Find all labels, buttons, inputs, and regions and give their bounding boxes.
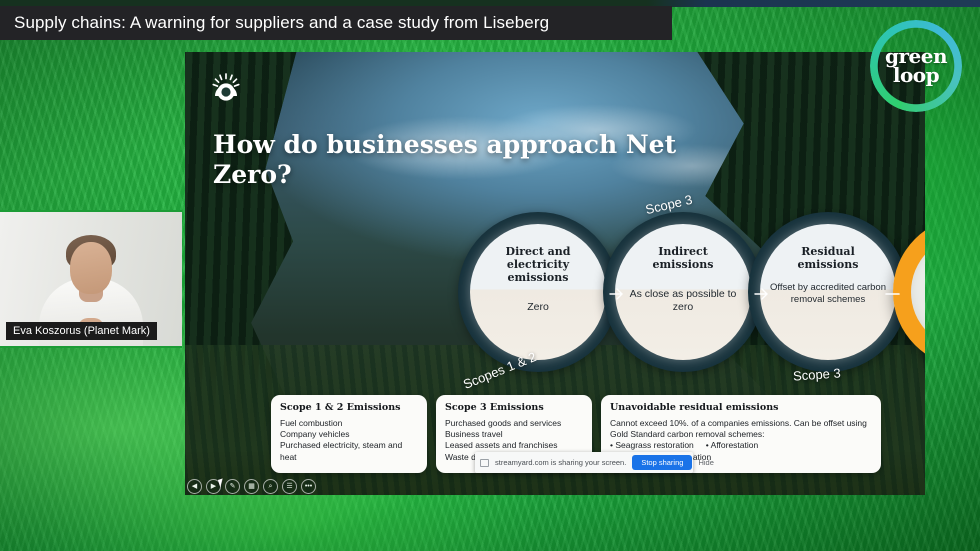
node-scope-label: Scope 3 xyxy=(793,365,842,383)
participant-name-text: Eva Koszorus (Planet Mark) xyxy=(13,325,150,337)
card-line: Fuel combustion xyxy=(280,418,418,429)
green-loop-logo: green loop xyxy=(870,20,962,112)
logo-word-loop: loop xyxy=(885,66,947,85)
zoom-button[interactable]: ⌕ xyxy=(263,479,278,494)
card-line: Company vehicles xyxy=(280,429,418,440)
comment-button[interactable]: ☰ xyxy=(282,479,297,494)
node-face: Indirect emissions As close as possible … xyxy=(615,224,751,360)
card-title: Scope 3 Emissions xyxy=(445,402,583,413)
pen-button[interactable]: ✎ xyxy=(225,479,240,494)
node-heading: Indirect emissions xyxy=(627,246,739,272)
flow-arrow-icon xyxy=(754,286,770,302)
diagram-node-scope-3-indirect: Indirect emissions As close as possible … xyxy=(603,212,763,372)
participant-video-tile[interactable]: Eva Koszorus (Planet Mark) xyxy=(0,210,182,348)
node-body: Zero xyxy=(478,301,598,314)
node-face: Direct and electricity emissions Zero xyxy=(470,224,606,360)
card-title: Unavoidable residual emissions xyxy=(610,402,872,413)
node-heading: Residual emissions xyxy=(772,246,884,272)
card-bullets-row: • Seagrass restoration • Afforestation xyxy=(610,440,872,451)
card-line: Business travel xyxy=(445,429,583,440)
more-button[interactable]: ••• xyxy=(301,479,316,494)
flow-arrow-icon xyxy=(609,286,625,302)
net-zero-diagram: Direct and electricity emissions Zero Sc… xyxy=(185,212,925,387)
back-button[interactable]: ◀ xyxy=(187,479,202,494)
slide-player-toolbar[interactable]: ◀ ▶ ✎ ▦ ⌕ ☰ ••• xyxy=(187,478,322,494)
sunburst-icon xyxy=(209,70,243,104)
card-line: Leased assets and franchises xyxy=(445,440,583,451)
card-scope-1-2: Scope 1 & 2 Emissions Fuel combustion Co… xyxy=(271,395,427,473)
shared-slide[interactable]: How do businesses approach Net Zero? Dir… xyxy=(185,52,925,495)
node-face: Residual emissions Offset by accredited … xyxy=(760,224,896,360)
card-line: Cannot exceed 10%. of a companies emissi… xyxy=(610,418,872,440)
card-line: Purchased electricity, steam and heat xyxy=(280,440,418,462)
participant-face xyxy=(70,242,112,294)
card-bullet: • Afforestation xyxy=(706,440,758,451)
stream-title-bar: Supply chains: A warning for suppliers a… xyxy=(0,6,672,40)
node-body: As close as possible to zero xyxy=(623,288,743,314)
stream-title-text: Supply chains: A warning for suppliers a… xyxy=(14,13,549,33)
logo-wordmark: green loop xyxy=(885,47,947,85)
share-message: streamyard.com is sharing your screen. xyxy=(495,458,626,467)
screen-share-notification-bar: streamyard.com is sharing your screen. S… xyxy=(475,452,693,473)
card-bullet: • Seagrass restoration xyxy=(610,440,694,451)
slide-headline: How do businesses approach Net Zero? xyxy=(213,130,693,189)
participant-name-badge: Eva Koszorus (Planet Mark) xyxy=(6,322,157,340)
card-line: Purchased goods and services xyxy=(445,418,583,429)
flow-arrow-icon xyxy=(885,286,901,302)
card-title: Scope 1 & 2 Emissions xyxy=(280,402,418,413)
screen-share-window: Supply chains: A warning for suppliers a… xyxy=(0,0,980,551)
node-body: Offset by accredited carbon removal sche… xyxy=(765,282,891,305)
grid-button[interactable]: ▦ xyxy=(244,479,259,494)
diagram-node-scope-3-residual: Residual emissions Offset by accredited … xyxy=(748,212,908,372)
hide-button[interactable]: Hide xyxy=(698,458,713,467)
diagram-node-scopes-1-2: Direct and electricity emissions Zero Sc… xyxy=(458,212,618,372)
node-heading: Direct and electricity emissions xyxy=(482,246,594,285)
screen-icon xyxy=(480,459,489,467)
stop-sharing-button[interactable]: Stop sharing xyxy=(632,455,692,470)
